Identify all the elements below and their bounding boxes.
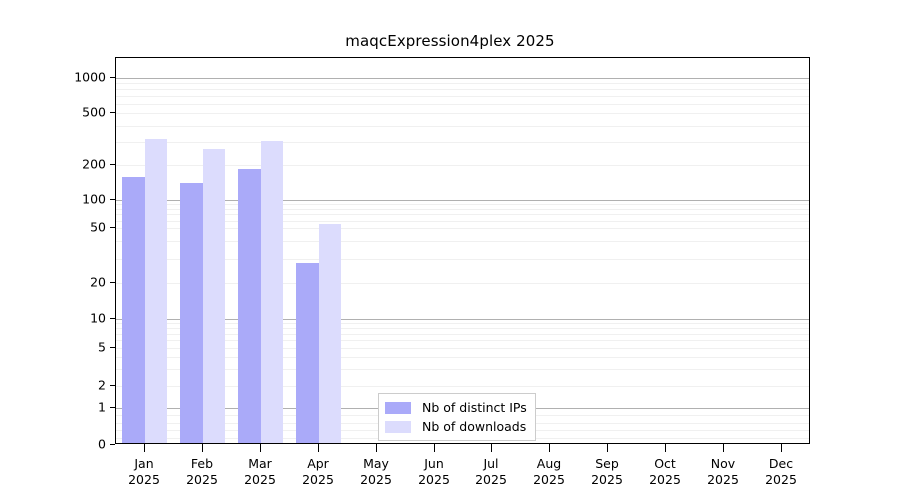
x-tick-mark [376, 444, 377, 452]
x-tick-label-line: Aug [533, 456, 565, 472]
x-tick-label-line: 2025 [418, 472, 450, 488]
y-tick-label: 100 [82, 192, 106, 207]
x-tick-label: Dec2025 [765, 456, 797, 488]
x-tick-label-line: 2025 [591, 472, 623, 488]
x-tick-label: Jun2025 [418, 456, 450, 488]
x-tick-label-line: 2025 [244, 472, 276, 488]
legend-item-downloads[interactable]: Nb of downloads [385, 417, 527, 436]
y-tick-mark [110, 347, 115, 348]
x-tick-label: Aug2025 [533, 456, 565, 488]
y-tick-mark [110, 282, 115, 283]
x-tick-label: Jul2025 [475, 456, 507, 488]
x-tick-mark [318, 444, 319, 452]
y-tick-mark [110, 199, 115, 200]
x-tick-mark [665, 444, 666, 452]
x-tick-mark [607, 444, 608, 452]
chart-title: maqcExpression4plex 2025 [0, 32, 900, 50]
x-tick-label-line: 2025 [128, 472, 160, 488]
x-tick-label-line: 2025 [186, 472, 218, 488]
y-tick-label: 5 [98, 340, 106, 355]
y-tick-label: 1000 [74, 70, 106, 85]
y-tick-mark [110, 227, 115, 228]
y-tick-mark [110, 318, 115, 319]
x-tick-mark [144, 444, 145, 452]
y-tick-label: 50 [90, 220, 106, 235]
x-tick-label-line: 2025 [475, 472, 507, 488]
x-tick-label-line: Apr [302, 456, 334, 472]
y-tick-mark [110, 112, 115, 113]
x-tick-label-line: 2025 [649, 472, 681, 488]
chart-figure: maqcExpression4plex 2025 012510205010020… [0, 0, 900, 500]
x-tick-mark [202, 444, 203, 452]
x-tick-label-line: Feb [186, 456, 218, 472]
y-tick-label: 10 [90, 311, 106, 326]
x-tick-label-line: 2025 [302, 472, 334, 488]
legend-label-downloads: Nb of downloads [422, 419, 526, 434]
legend-label-ips: Nb of distinct IPs [422, 400, 527, 415]
y-tick-mark [110, 385, 115, 386]
y-tick-label: 2 [98, 378, 106, 393]
x-tick-mark [434, 444, 435, 452]
x-tick-label-line: 2025 [533, 472, 565, 488]
x-tick-label-line: Dec [765, 456, 797, 472]
x-tick-label-line: Jan [128, 456, 160, 472]
x-tick-label-line: 2025 [707, 472, 739, 488]
x-tick-mark [781, 444, 782, 452]
legend-swatch-downloads-icon [385, 421, 411, 433]
x-tick-label: Mar2025 [244, 456, 276, 488]
x-tick-label: Feb2025 [186, 456, 218, 488]
legend-swatch-ips-icon [385, 402, 411, 414]
x-tick-label: Apr2025 [302, 456, 334, 488]
x-tick-mark [549, 444, 550, 452]
x-tick-label-line: Oct [649, 456, 681, 472]
x-tick-label: May2025 [360, 456, 392, 488]
x-tick-label-line: Sep [591, 456, 623, 472]
x-tick-label: Oct2025 [649, 456, 681, 488]
legend-item-ips[interactable]: Nb of distinct IPs [385, 398, 527, 417]
y-tick-mark [110, 164, 115, 165]
x-axis-labels: Jan2025Feb2025Mar2025Apr2025May2025Jun20… [115, 452, 810, 496]
y-tick-label: 500 [82, 105, 106, 120]
x-tick-label-line: Jul [475, 456, 507, 472]
x-tick-label-line: Nov [707, 456, 739, 472]
y-tick-label: 1 [98, 400, 106, 415]
x-tick-mark [260, 444, 261, 452]
x-tick-label: Nov2025 [707, 456, 739, 488]
x-tick-label-line: 2025 [765, 472, 797, 488]
y-tick-label: 20 [90, 275, 106, 290]
x-tick-mark [723, 444, 724, 452]
y-axis: 01251020501002005001000 [0, 57, 900, 444]
y-tick-mark [110, 407, 115, 408]
y-tick-mark [110, 77, 115, 78]
x-tick-label-line: Jun [418, 456, 450, 472]
y-tick-label: 0 [98, 437, 106, 452]
x-tick-label: Sep2025 [591, 456, 623, 488]
x-tick-mark [491, 444, 492, 452]
x-tick-label-line: 2025 [360, 472, 392, 488]
x-tick-label-line: May [360, 456, 392, 472]
x-tick-label-line: Mar [244, 456, 276, 472]
y-tick-label: 200 [82, 157, 106, 172]
x-tick-label: Jan2025 [128, 456, 160, 488]
legend[interactable]: Nb of distinct IPs Nb of downloads [378, 393, 536, 441]
